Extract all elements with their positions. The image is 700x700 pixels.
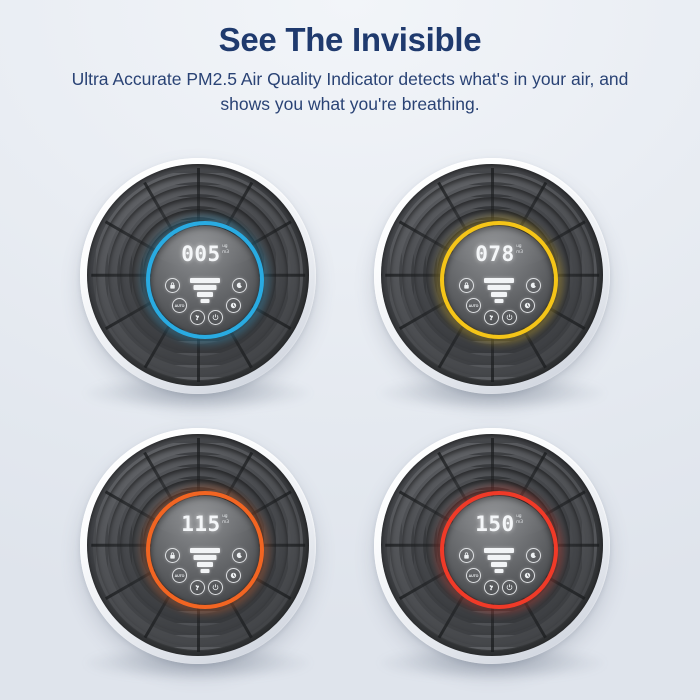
pm25-value: 150: [475, 514, 514, 535]
product-feature-image: See The Invisible Ultra Accurate PM2.5 A…: [0, 0, 700, 700]
timer-button[interactable]: [520, 298, 535, 313]
pm25-value: 115: [181, 514, 220, 535]
timer-button[interactable]: [226, 298, 241, 313]
header: See The Invisible Ultra Accurate PM2.5 A…: [0, 0, 700, 117]
pm25-reading: 005ugm3: [151, 244, 259, 265]
moon-icon: [235, 551, 244, 560]
page-subtitle: Ultra Accurate PM2.5 Air Quality Indicat…: [45, 67, 655, 118]
pm25-unit: ugm3: [516, 244, 523, 255]
fan-speed-button[interactable]: [484, 580, 499, 595]
lock-icon: [462, 551, 471, 560]
control-panel: 078ugm3AUTO: [445, 226, 553, 334]
control-panel-assembly: 150ugm3AUTO: [440, 491, 558, 609]
power-button[interactable]: [502, 310, 517, 325]
night-mode-button[interactable]: [526, 548, 541, 563]
airflow-filter-icon: [484, 278, 514, 302]
power-icon: [211, 313, 220, 322]
airflow-filter-icon: [190, 548, 220, 572]
device-housing: 078ugm3AUTO: [374, 158, 610, 394]
night-mode-button[interactable]: [232, 278, 247, 293]
control-panel: 150ugm3AUTO: [445, 496, 553, 604]
fan-icon: [487, 583, 496, 592]
timer-button[interactable]: [520, 568, 535, 583]
pm25-unit: ugm3: [516, 514, 523, 525]
air-intake-grille: 005ugm3AUTO: [87, 164, 309, 386]
fan-icon: [487, 313, 496, 322]
auto-mode-button[interactable]: AUTO: [172, 568, 187, 583]
pm25-reading: 115ugm3: [151, 514, 259, 535]
clock-icon: [523, 571, 532, 580]
power-button[interactable]: [208, 310, 223, 325]
device-housing: 005ugm3AUTO: [80, 158, 316, 394]
night-mode-button[interactable]: [232, 548, 247, 563]
control-panel: 115ugm3AUTO: [151, 496, 259, 604]
air-purifier-grid: 005ugm3AUTO078ugm3AUTO115ugm3AUTO150ugm3…: [0, 148, 700, 700]
pm25-reading: 078ugm3: [445, 244, 553, 265]
air-purifier-unit: 078ugm3AUTO: [352, 150, 632, 426]
moon-icon: [529, 551, 538, 560]
fan-speed-button[interactable]: [484, 310, 499, 325]
airflow-filter-icon: [190, 278, 220, 302]
clock-icon: [229, 301, 238, 310]
lock-icon: [168, 551, 177, 560]
air-purifier-unit: 005ugm3AUTO: [58, 150, 338, 426]
auto-label: AUTO: [175, 304, 185, 308]
air-intake-grille: 150ugm3AUTO: [381, 434, 603, 656]
fan-speed-button[interactable]: [190, 580, 205, 595]
pm25-reading: 150ugm3: [445, 514, 553, 535]
fan-icon: [193, 313, 202, 322]
pm25-value: 078: [475, 244, 514, 265]
control-panel: 005ugm3AUTO: [151, 226, 259, 334]
auto-label: AUTO: [469, 574, 479, 578]
control-panel-assembly: 005ugm3AUTO: [146, 221, 264, 339]
lock-icon: [462, 281, 471, 290]
timer-button[interactable]: [226, 568, 241, 583]
moon-icon: [235, 281, 244, 290]
pm25-unit: ugm3: [222, 514, 229, 525]
child-lock-button[interactable]: [165, 548, 180, 563]
pm25-unit: ugm3: [222, 244, 229, 255]
air-intake-grille: 078ugm3AUTO: [381, 164, 603, 386]
device-housing: 115ugm3AUTO: [80, 428, 316, 664]
power-button[interactable]: [502, 580, 517, 595]
night-mode-button[interactable]: [526, 278, 541, 293]
power-button[interactable]: [208, 580, 223, 595]
child-lock-button[interactable]: [459, 278, 474, 293]
auto-mode-button[interactable]: AUTO: [172, 298, 187, 313]
child-lock-button[interactable]: [459, 548, 474, 563]
power-icon: [505, 313, 514, 322]
device-housing: 150ugm3AUTO: [374, 428, 610, 664]
clock-icon: [523, 301, 532, 310]
pm25-value: 005: [181, 244, 220, 265]
pm25-unit-denominator: m3: [516, 520, 523, 526]
power-icon: [211, 583, 220, 592]
clock-icon: [229, 571, 238, 580]
page-title: See The Invisible: [0, 22, 700, 58]
air-purifier-unit: 115ugm3AUTO: [58, 420, 338, 696]
child-lock-button[interactable]: [165, 278, 180, 293]
pm25-unit-denominator: m3: [222, 250, 229, 256]
airflow-filter-icon: [484, 548, 514, 572]
power-icon: [505, 583, 514, 592]
pm25-unit-denominator: m3: [222, 520, 229, 526]
auto-label: AUTO: [175, 574, 185, 578]
lock-icon: [168, 281, 177, 290]
pm25-unit-denominator: m3: [516, 250, 523, 256]
auto-mode-button[interactable]: AUTO: [466, 568, 481, 583]
air-intake-grille: 115ugm3AUTO: [87, 434, 309, 656]
control-panel-assembly: 115ugm3AUTO: [146, 491, 264, 609]
fan-icon: [193, 583, 202, 592]
control-panel-assembly: 078ugm3AUTO: [440, 221, 558, 339]
auto-label: AUTO: [469, 304, 479, 308]
air-purifier-unit: 150ugm3AUTO: [352, 420, 632, 696]
moon-icon: [529, 281, 538, 290]
auto-mode-button[interactable]: AUTO: [466, 298, 481, 313]
fan-speed-button[interactable]: [190, 310, 205, 325]
